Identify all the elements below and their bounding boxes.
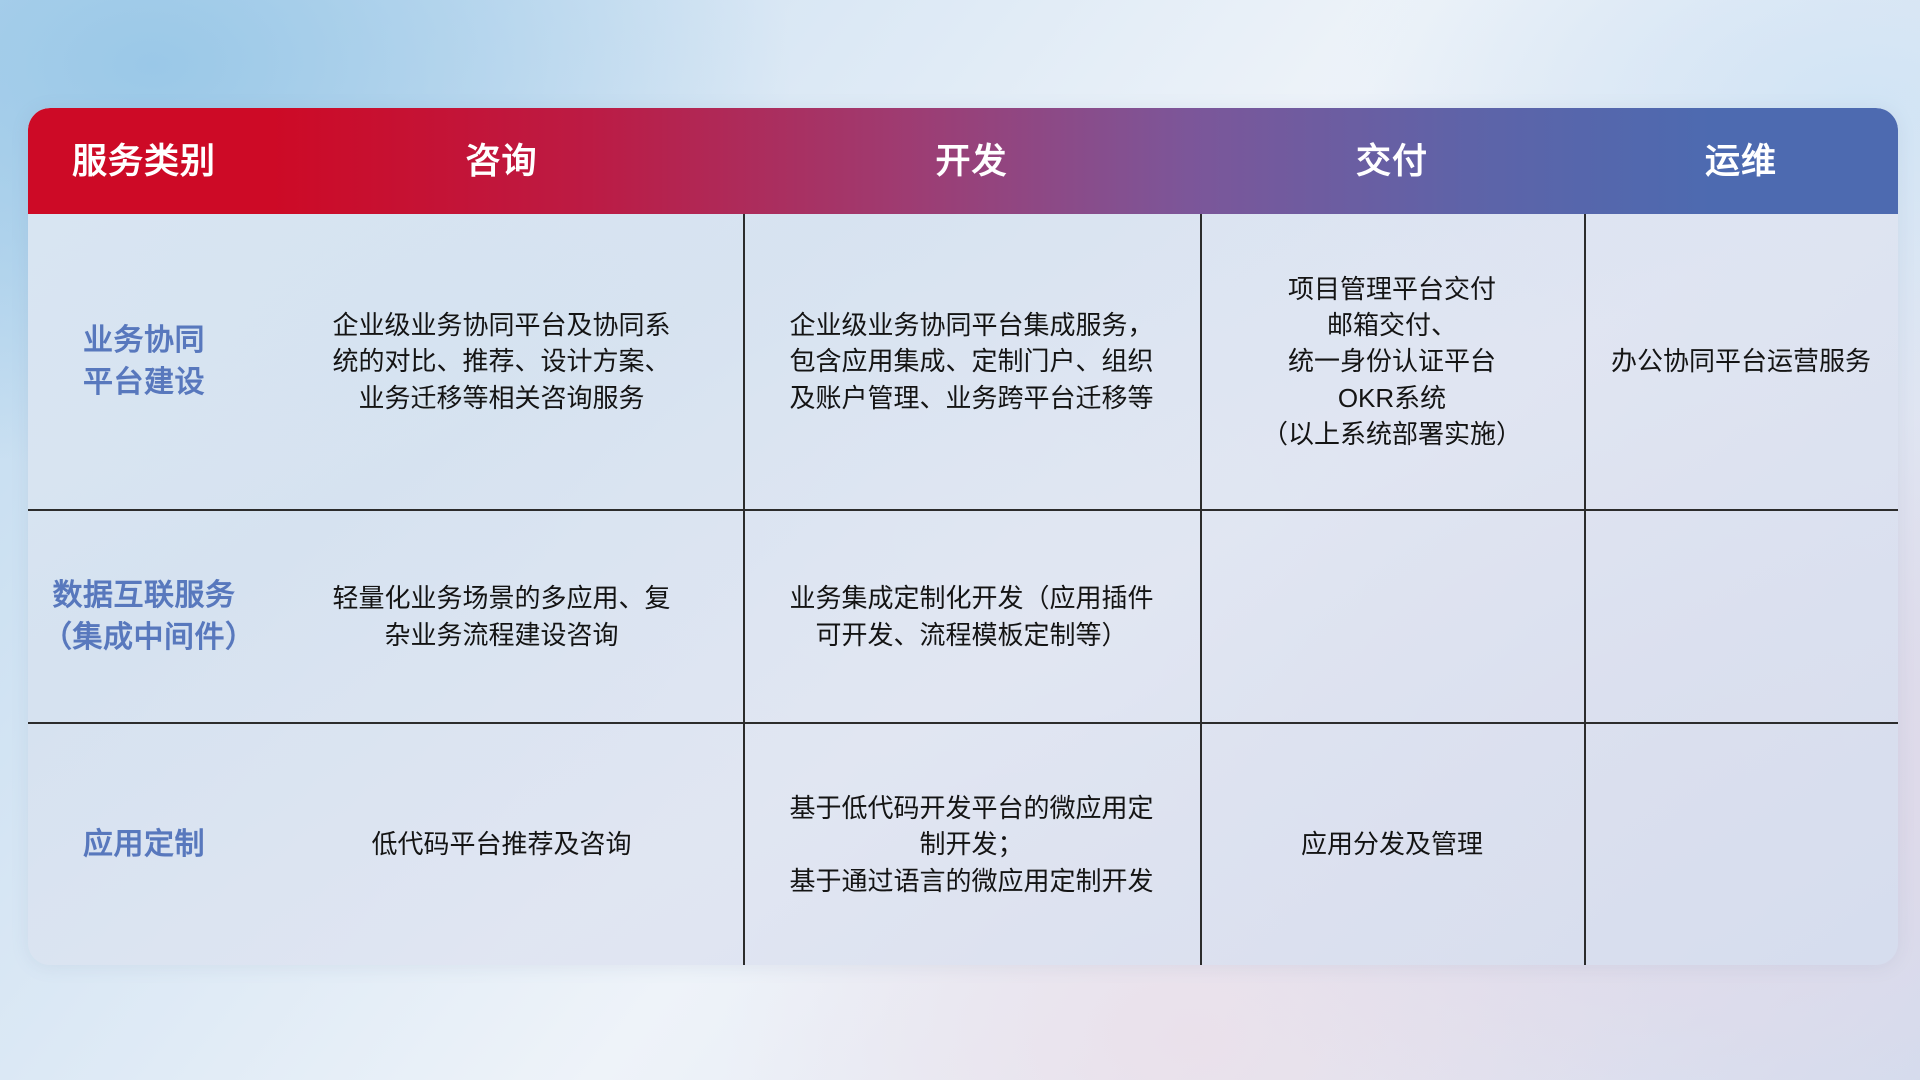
column-header-service-category: 服务类别	[28, 144, 260, 179]
column-header-operations: 运维	[1584, 144, 1898, 179]
cell-development: 企业级业务协同平台集成服务， 包含应用集成、定制门户、组织 及账户管理、业务跨平…	[743, 214, 1200, 509]
cell-consulting: 企业级业务协同平台及协同系 统的对比、推荐、设计方案、 业务迁移等相关咨询服务	[260, 214, 743, 509]
service-matrix-table: 服务类别 咨询 开发 交付 运维 业务协同 平台建设 企业级业务协同平台及协同系…	[28, 108, 1898, 965]
table-header-row: 服务类别 咨询 开发 交付 运维	[28, 108, 1898, 214]
cell-text: 轻量化业务场景的多应用、复 杂业务流程建设咨询	[332, 580, 670, 653]
cell-delivery: 项目管理平台交付 邮箱交付、 统一身份认证平台 OKR系统 （以上系统部署实施）	[1200, 214, 1584, 509]
cell-text: 办公协同平台运营服务	[1611, 343, 1871, 379]
table-row: 应用定制 低代码平台推荐及咨询 基于低代码开发平台的微应用定 制开发； 基于通过…	[28, 724, 1898, 965]
row-category-cell: 应用定制	[28, 724, 260, 965]
row-category-label: 应用定制	[83, 824, 205, 865]
column-header-development: 开发	[743, 144, 1200, 179]
cell-delivery	[1200, 511, 1584, 722]
row-category-label: 业务协同 平台建设	[83, 320, 205, 403]
cell-text: 业务集成定制化开发（应用插件 可开发、流程模板定制等）	[789, 580, 1153, 653]
row-category-cell: 数据互联服务 （集成中间件）	[28, 511, 260, 722]
row-category-label: 数据互联服务 （集成中间件）	[42, 575, 246, 658]
cell-text: 基于低代码开发平台的微应用定 制开发； 基于通过语言的微应用定制开发	[789, 790, 1153, 899]
cell-text: 低代码平台推荐及咨询	[371, 826, 631, 862]
cell-text: 企业级业务协同平台集成服务， 包含应用集成、定制门户、组织 及账户管理、业务跨平…	[789, 307, 1153, 416]
cell-consulting: 低代码平台推荐及咨询	[260, 724, 743, 965]
cell-development: 业务集成定制化开发（应用插件 可开发、流程模板定制等）	[743, 511, 1200, 722]
column-header-consulting: 咨询	[260, 144, 743, 179]
cell-operations	[1584, 724, 1898, 965]
row-category-cell: 业务协同 平台建设	[28, 214, 260, 509]
cell-text: 应用分发及管理	[1301, 826, 1483, 862]
table-row: 业务协同 平台建设 企业级业务协同平台及协同系 统的对比、推荐、设计方案、 业务…	[28, 214, 1898, 509]
table-body: 业务协同 平台建设 企业级业务协同平台及协同系 统的对比、推荐、设计方案、 业务…	[28, 214, 1898, 965]
cell-delivery: 应用分发及管理	[1200, 724, 1584, 965]
cell-operations	[1584, 511, 1898, 722]
cell-consulting: 轻量化业务场景的多应用、复 杂业务流程建设咨询	[260, 511, 743, 722]
cell-text: 企业级业务协同平台及协同系 统的对比、推荐、设计方案、 业务迁移等相关咨询服务	[332, 307, 670, 416]
table-row: 数据互联服务 （集成中间件） 轻量化业务场景的多应用、复 杂业务流程建设咨询 业…	[28, 511, 1898, 722]
cell-text: 项目管理平台交付 邮箱交付、 统一身份认证平台 OKR系统 （以上系统部署实施）	[1262, 271, 1522, 453]
column-header-delivery: 交付	[1200, 144, 1584, 179]
cell-development: 基于低代码开发平台的微应用定 制开发； 基于通过语言的微应用定制开发	[743, 724, 1200, 965]
cell-operations: 办公协同平台运营服务	[1584, 214, 1898, 509]
